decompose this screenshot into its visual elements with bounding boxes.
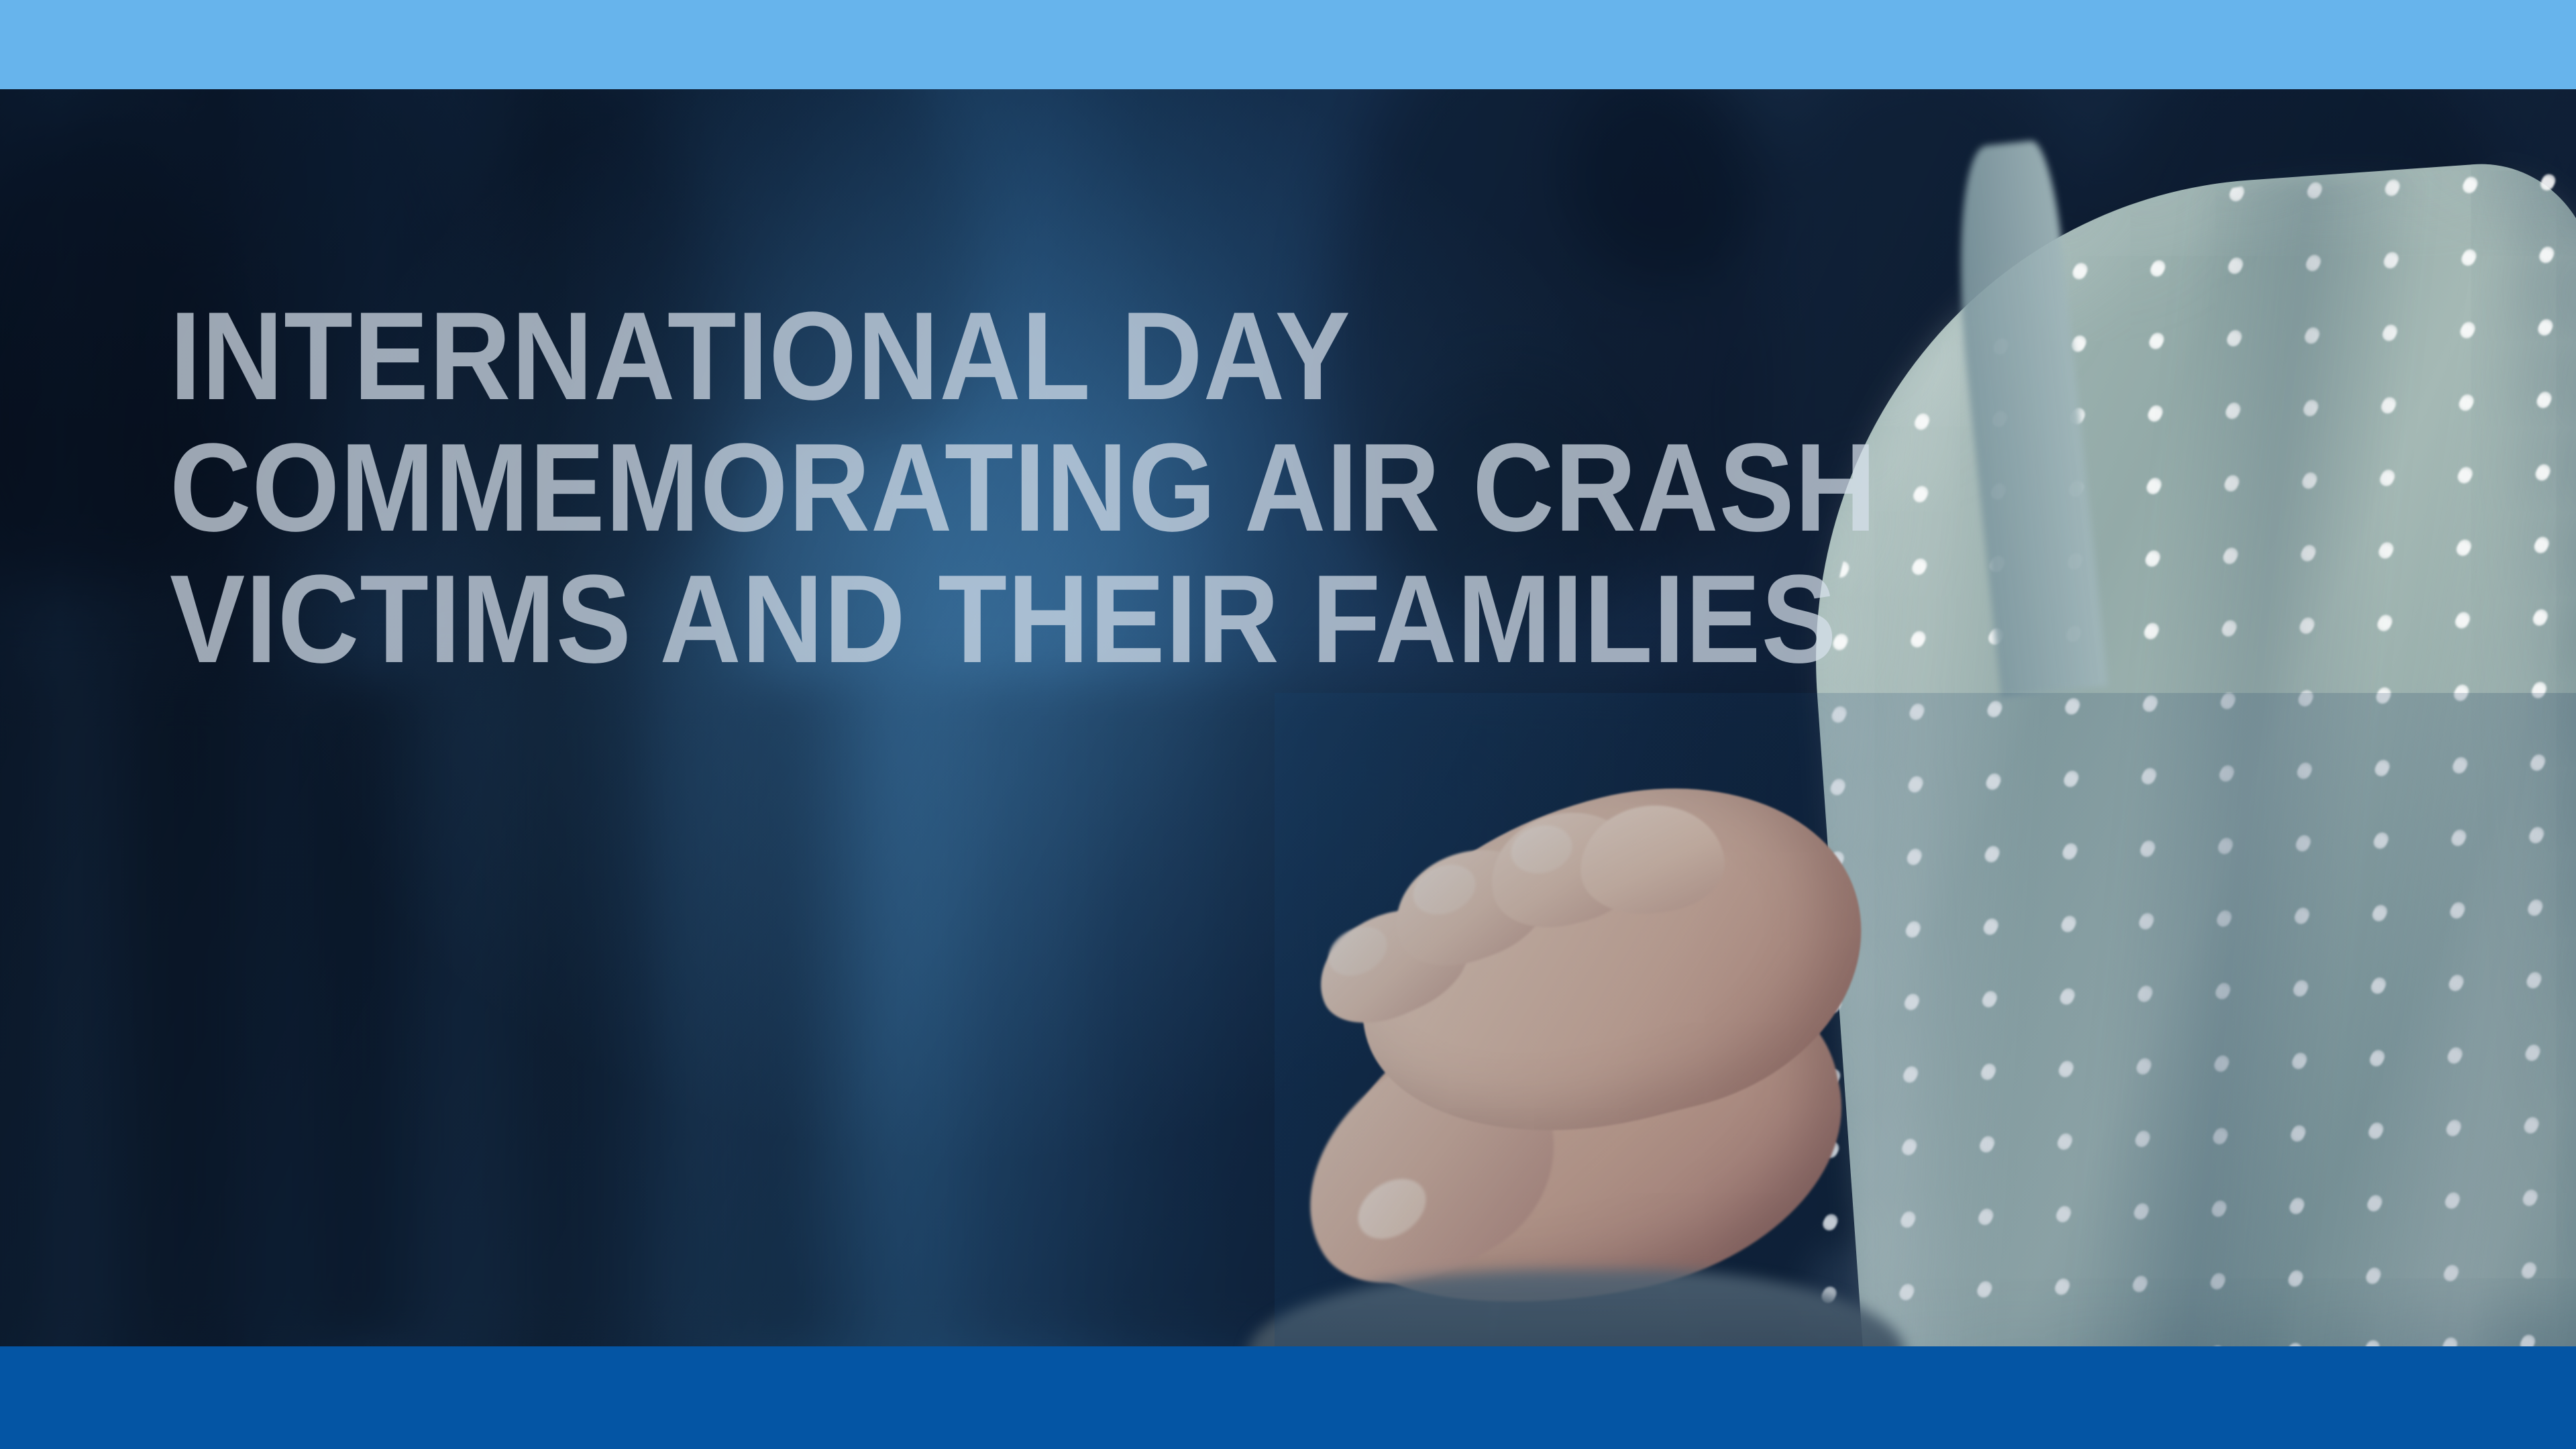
title-line-1: INTERNATIONAL DAY [170,290,1981,422]
title-line-2: COMMEMORATING AIR CRASH [170,422,1981,553]
clasped-hands [1275,693,2012,1346]
lap [1248,1270,1905,1346]
banner-title: INTERNATIONAL DAY COMMEMORATING AIR CRAS… [170,290,2182,685]
bottom-accent-bar [0,1346,2576,1449]
hero-banner: INTERNATIONAL DAY COMMEMORATING AIR CRAS… [0,89,2576,1346]
foreground-subject [1275,693,2576,1346]
banner-page: INTERNATIONAL DAY COMMEMORATING AIR CRAS… [0,0,2576,1449]
top-accent-bar [0,0,2576,89]
title-line-3: VICTIMS AND THEIR FAMILIES [170,553,1981,685]
